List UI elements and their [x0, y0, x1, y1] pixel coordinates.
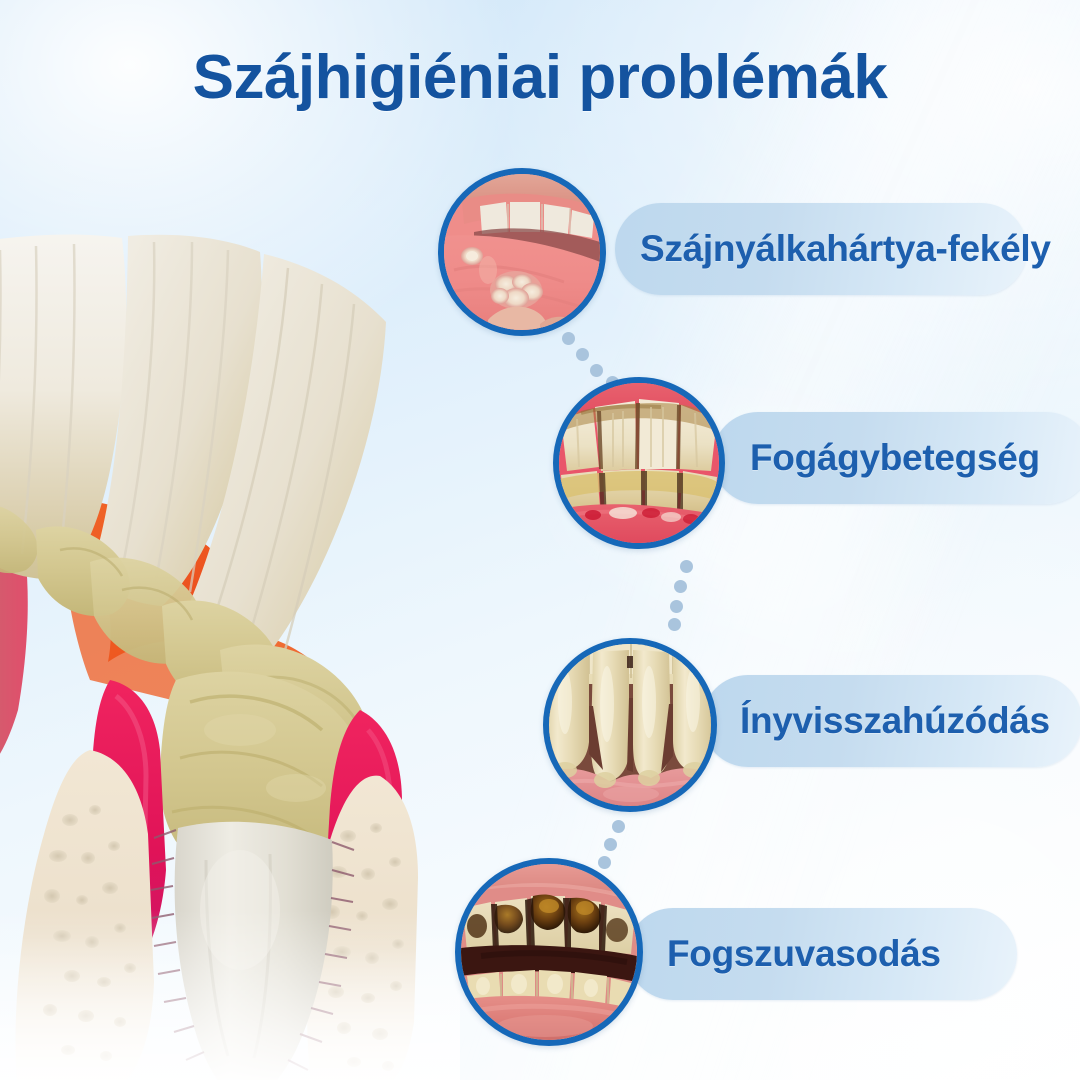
label-pill-mouth-ulcer[interactable]: Szájnyálkahártya-fekély [615, 203, 1027, 295]
gum-recession-photo[interactable] [543, 638, 717, 812]
connector-periodontal-to-recession [660, 560, 720, 630]
label-pill-gum-recession[interactable]: Ínyvisszahúzódás [702, 675, 1080, 767]
connector-dot [590, 364, 603, 377]
tooth-decay-photo[interactable] [455, 858, 643, 1046]
label-text-gum-recession: Ínyvisszahúzódás [740, 700, 1050, 742]
connector-dot [576, 348, 589, 361]
mouth-ulcer-photo[interactable] [438, 168, 606, 336]
label-pill-periodontal-disease[interactable]: Fogágybetegség [712, 412, 1080, 504]
periodontal-disease-photo[interactable] [553, 377, 725, 549]
connector-dot [680, 560, 693, 573]
page-title: Szájhigiéniai problémák [0, 42, 1080, 113]
label-text-periodontal-disease: Fogágybetegség [750, 437, 1040, 479]
connector-dot [604, 838, 617, 851]
label-text-mouth-ulcer: Szájnyálkahártya-fekély [640, 228, 1051, 270]
connector-dot [674, 580, 687, 593]
periodontal-cross-section-illustration [0, 210, 460, 1080]
connector-dot [670, 600, 683, 613]
label-text-tooth-decay: Fogszuvasodás [667, 933, 941, 975]
connector-dot [612, 820, 625, 833]
connector-dot [668, 618, 681, 631]
label-pill-tooth-decay[interactable]: Fogszuvasodás [627, 908, 1017, 1000]
infographic-poster: Szájhigiéniai problémák [0, 0, 1080, 1080]
connector-dot [562, 332, 575, 345]
connector-dot [598, 856, 611, 869]
